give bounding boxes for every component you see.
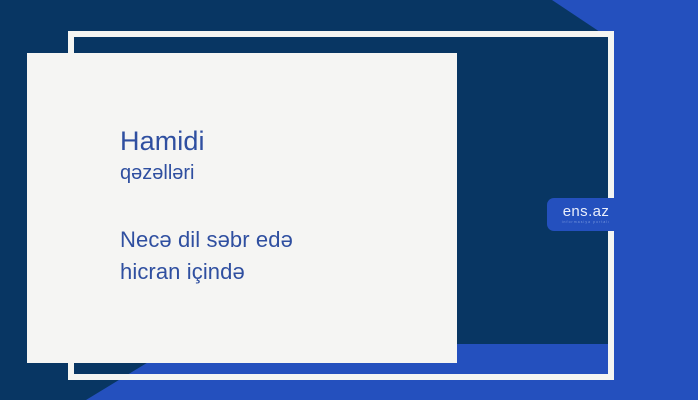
poem-author-title: Hamidi <box>120 125 440 158</box>
card-text-block: Hamidi qəzəlləri Necə dil səbr edə hicra… <box>120 125 440 288</box>
poster-canvas: Hamidi qəzəlləri Necə dil səbr edə hicra… <box>0 0 698 400</box>
verse-line: hicran içində <box>120 256 440 288</box>
poem-verse-block: Necə dil səbr edə hicran içində <box>120 224 440 288</box>
verse-line: Necə dil səbr edə <box>120 224 440 256</box>
poem-collection-subtitle: qəzəlləri <box>120 160 440 186</box>
ens-az-logo-badge[interactable]: ens.az informasiya portalı <box>547 198 625 231</box>
content-card: Hamidi qəzəlləri Necə dil səbr edə hicra… <box>27 53 457 363</box>
logo-wordmark: ens.az <box>563 204 610 219</box>
logo-tagline: informasiya portalı <box>562 221 611 224</box>
